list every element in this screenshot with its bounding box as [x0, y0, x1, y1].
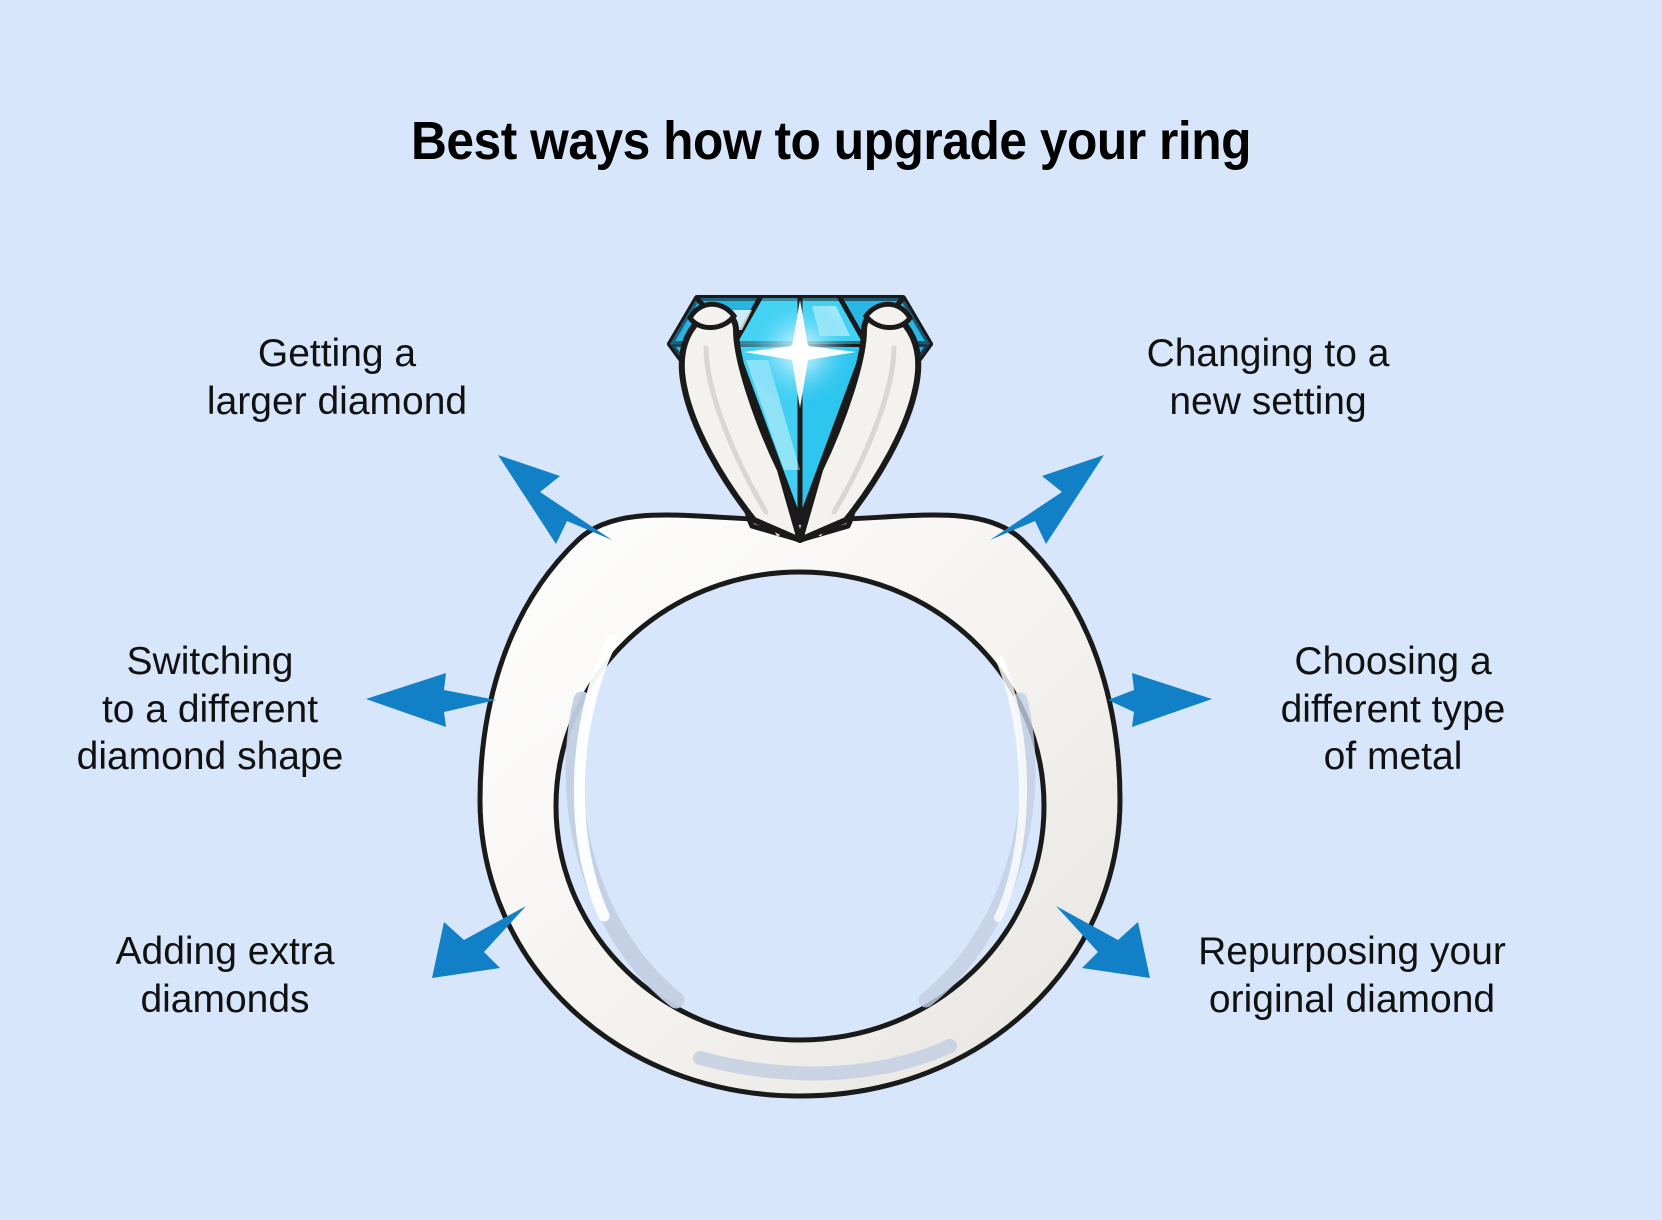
arrow-left-icon: [366, 673, 496, 727]
arrow-right-icon: [1108, 673, 1212, 727]
callout-label-diamond-shape: Switching to a different diamond shape: [40, 638, 380, 781]
infographic-canvas: Best ways how to upgrade your ring: [0, 0, 1662, 1220]
arrow-layer: [0, 0, 1662, 1220]
callout-label-new-setting: Changing to a new setting: [1078, 330, 1458, 425]
arrow-up-right-icon: [990, 455, 1104, 544]
ring-setting-base: [745, 452, 856, 540]
diamond-gem: [670, 298, 930, 522]
callout-label-repurposing: Repurposing your original diamond: [1172, 928, 1532, 1023]
diamond-prongs: [682, 304, 918, 540]
page-title: Best ways how to upgrade your ring: [66, 110, 1595, 172]
sparkle-highlight: [744, 300, 856, 408]
callout-label-larger-diamond: Getting a larger diamond: [152, 330, 522, 425]
ring-band: [480, 515, 1120, 1096]
engagement-ring-illustration: [0, 0, 1662, 1220]
arrow-down-right-icon: [1056, 906, 1150, 978]
callout-label-metal-type: Choosing a different type of metal: [1218, 638, 1568, 781]
arrow-down-left-icon: [432, 906, 526, 978]
callout-label-extra-diamonds: Adding extra diamonds: [60, 928, 390, 1023]
arrow-up-left-icon: [498, 455, 612, 544]
